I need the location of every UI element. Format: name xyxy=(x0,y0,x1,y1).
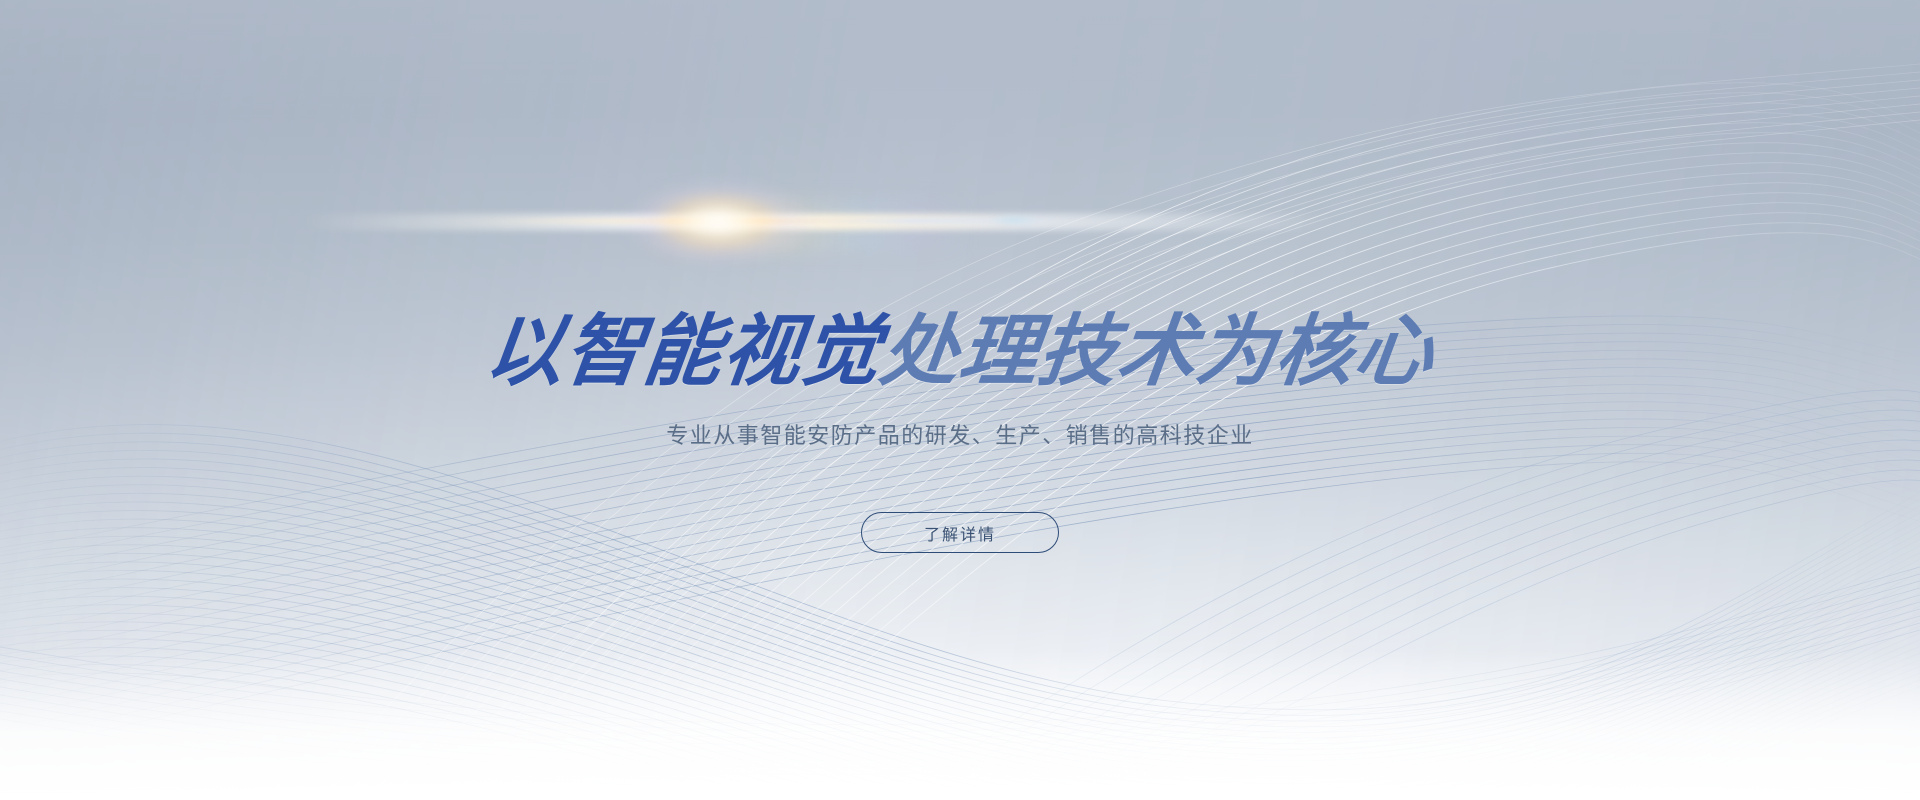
headline-segment-primary: 以智能视觉 xyxy=(481,310,886,394)
hero-headline: 以智能视觉处理技术为核心 xyxy=(0,310,1920,394)
learn-more-button[interactable]: 了解详情 xyxy=(861,512,1059,553)
hero-cta-row: 了解详情 xyxy=(0,512,1920,553)
hero-content: 以智能视觉处理技术为核心 专业从事智能安防产品的研发、生产、销售的高科技企业 了… xyxy=(0,0,1920,800)
hero-subtitle: 专业从事智能安防产品的研发、生产、销售的高科技企业 xyxy=(0,422,1920,452)
hero-banner: 以智能视觉处理技术为核心 专业从事智能安防产品的研发、生产、销售的高科技企业 了… xyxy=(0,0,1920,800)
headline-segment-secondary: 处理技术为核心 xyxy=(876,310,1439,394)
